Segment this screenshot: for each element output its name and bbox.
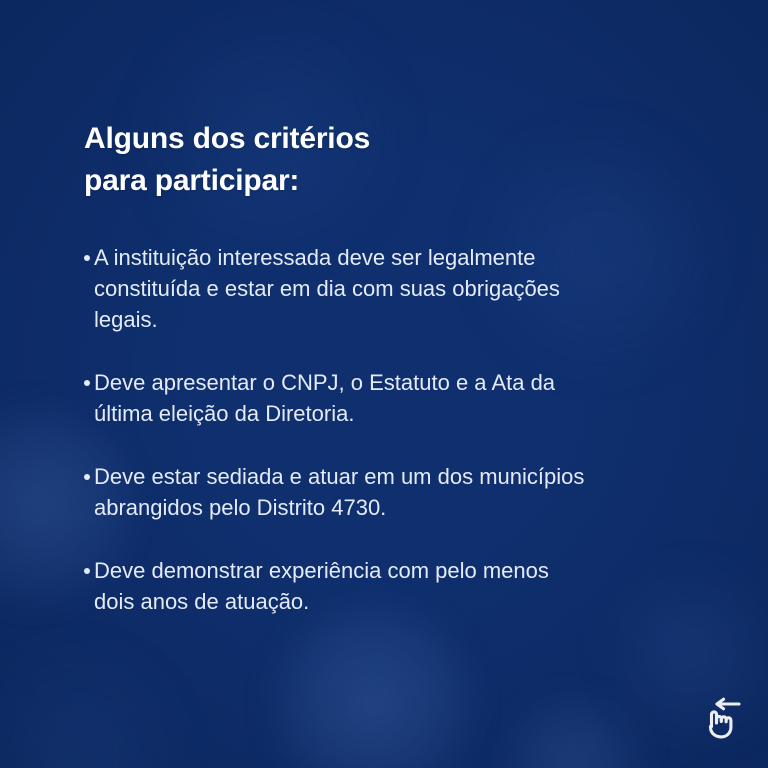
page-title-line-1: Alguns dos critérios xyxy=(84,118,644,160)
bullet-dot-icon xyxy=(84,380,90,386)
page-title: Alguns dos critérios para participar: xyxy=(84,118,644,202)
criteria-list: A instituição interessada deve ser legal… xyxy=(84,242,644,617)
bokeh-circle-bottom-center xyxy=(268,600,478,768)
bullet-dot-icon xyxy=(84,474,90,480)
list-item: Deve estar sediada e atuar em um dos mun… xyxy=(84,461,644,523)
bokeh-circle-bottom-right xyxy=(500,690,650,768)
list-item: A instituição interessada deve ser legal… xyxy=(84,242,644,335)
swipe-left-hand-icon[interactable] xyxy=(694,690,750,746)
list-item-text: Deve demonstrar experiência com pelo men… xyxy=(94,555,594,617)
list-item: Deve demonstrar experiência com pelo men… xyxy=(84,555,644,617)
bullet-dot-icon xyxy=(84,255,90,261)
list-item-text: Deve apresentar o CNPJ, o Estatuto e a A… xyxy=(94,367,594,429)
bullet-dot-icon xyxy=(84,568,90,574)
page-title-line-2: para participar: xyxy=(84,160,644,202)
list-item-text: A instituição interessada deve ser legal… xyxy=(94,242,594,335)
content-block: Alguns dos critérios para participar: A … xyxy=(84,118,644,617)
slide-canvas: Alguns dos critérios para participar: A … xyxy=(0,0,768,768)
bokeh-circle-bottom-left xyxy=(0,640,190,768)
list-item: Deve apresentar o CNPJ, o Estatuto e a A… xyxy=(84,367,644,429)
list-item-text: Deve estar sediada e atuar em um dos mun… xyxy=(94,461,594,523)
